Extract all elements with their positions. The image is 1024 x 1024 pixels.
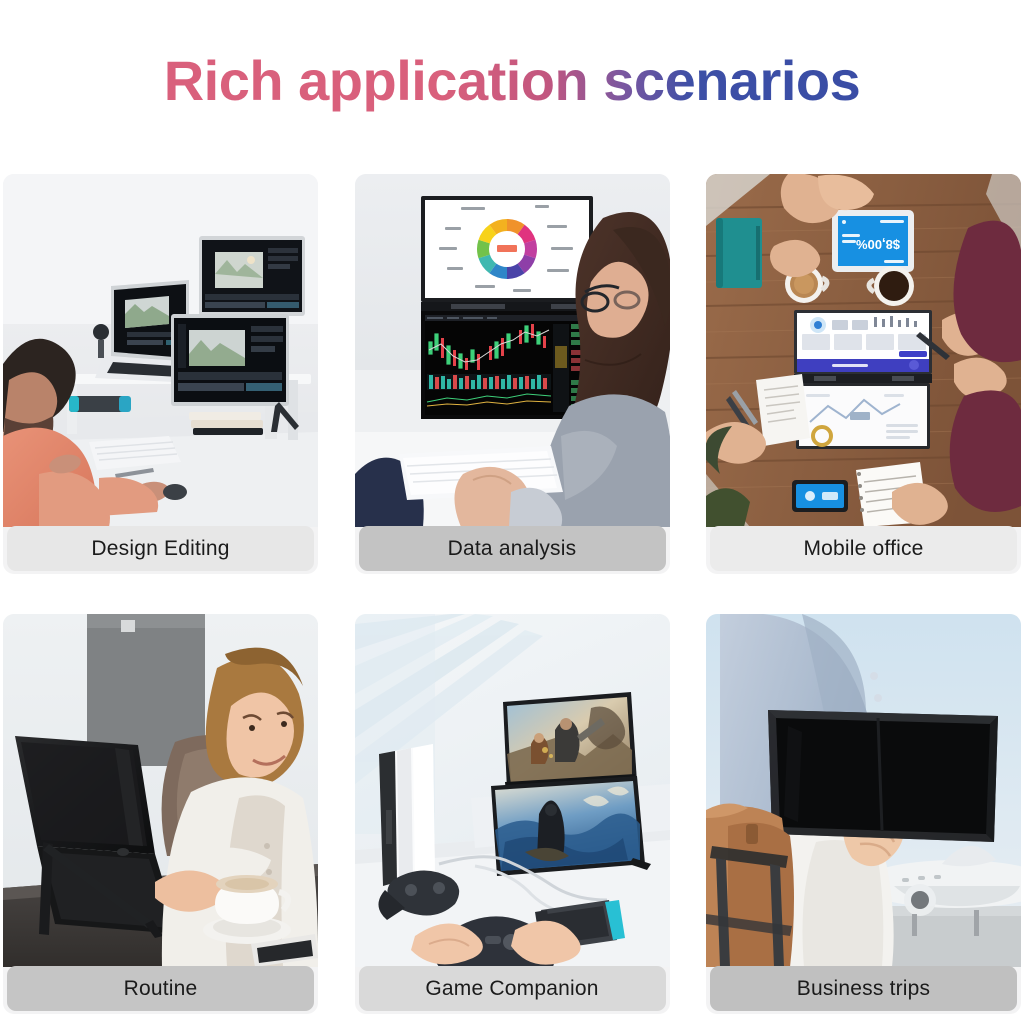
- scenario-card-game-companion[interactable]: Game Companion: [355, 614, 670, 1014]
- routine-photo: [3, 614, 318, 967]
- svg-text:$8,00%: $8,00%: [856, 237, 901, 252]
- scenario-card-business-trips[interactable]: Business trips: [706, 614, 1021, 1014]
- donut-chart: [477, 219, 537, 279]
- scenario-card-design-editing[interactable]: Design Editing: [3, 174, 318, 574]
- game-companion-illustration: [355, 614, 670, 967]
- card-caption-routine: Routine: [7, 966, 314, 1011]
- scenario-card-routine[interactable]: Routine: [3, 614, 318, 1014]
- card-caption-game-companion: Game Companion: [359, 966, 666, 1011]
- design-editing-photo: [3, 174, 318, 527]
- application-scenarios-page: Rich application scenarios: [0, 0, 1024, 1024]
- business-trips-photo: [706, 614, 1021, 967]
- card-caption-mobile-office: Mobile office: [710, 526, 1017, 571]
- data-analysis-photo: [355, 174, 670, 527]
- page-title-wrap: Rich application scenarios: [0, 48, 1024, 113]
- routine-illustration: [3, 614, 318, 967]
- game-companion-photo: [355, 614, 670, 967]
- mobile-office-photo: $8,00%: [706, 174, 1021, 527]
- card-caption-business-trips: Business trips: [710, 966, 1017, 1011]
- business-trips-illustration: [706, 614, 1021, 967]
- page-title: Rich application scenarios: [164, 48, 861, 113]
- card-caption-data-analysis: Data analysis: [359, 526, 666, 571]
- card-caption-design-editing: Design Editing: [7, 526, 314, 571]
- mobile-office-illustration: $8,00%: [706, 174, 1021, 527]
- scenario-card-data-analysis[interactable]: Data analysis: [355, 174, 670, 574]
- scenario-card-mobile-office[interactable]: $8,00%: [706, 174, 1021, 574]
- data-analysis-illustration: [355, 174, 670, 527]
- scenario-grid: Design Editing: [3, 174, 1021, 1014]
- design-editing-illustration: [3, 174, 318, 527]
